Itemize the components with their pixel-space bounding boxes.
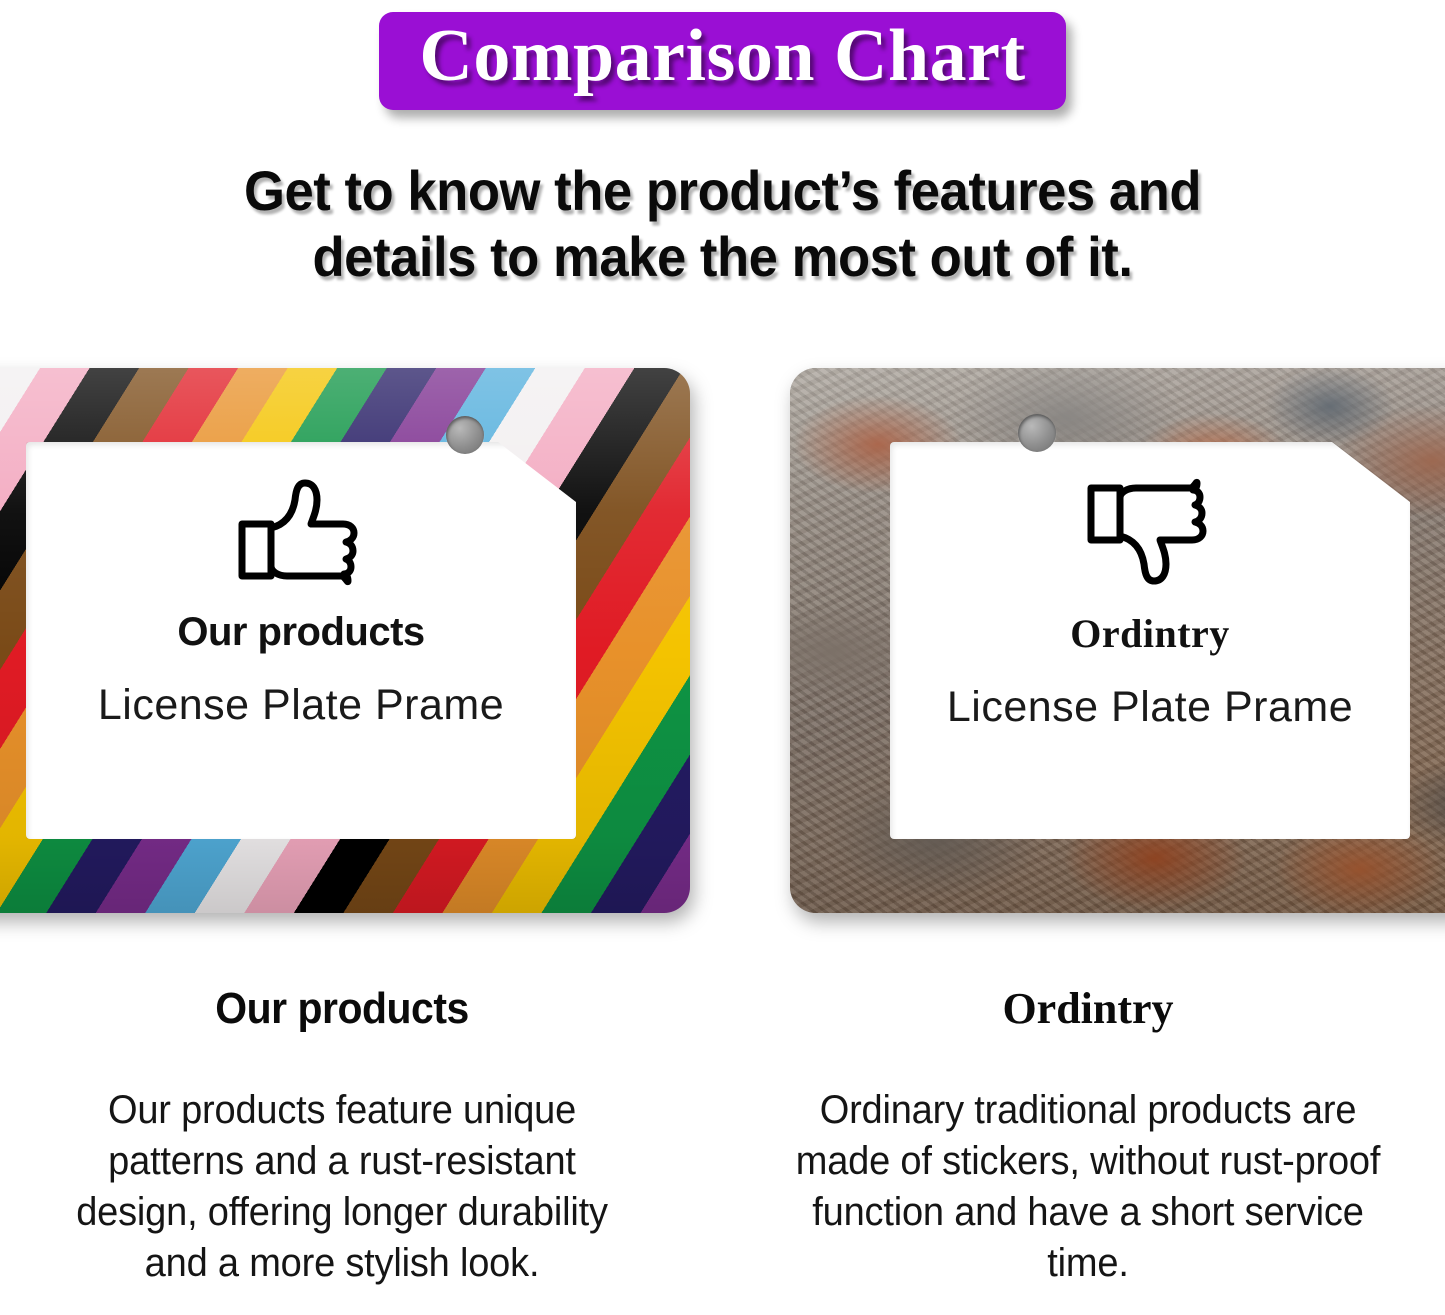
- thumbs-up-icon: [235, 476, 367, 588]
- column-heading-right: Ordintry: [738, 985, 1438, 1033]
- title-banner-wrap: Comparison Chart: [0, 12, 1445, 110]
- license-plate-window-left: Our products License Plate Prame: [26, 442, 576, 839]
- mounting-hole-left: [446, 416, 484, 454]
- ordinary-product-frame: Ordintry License Plate Prame: [790, 368, 1445, 913]
- our-product-frame: Our products License Plate Prame: [0, 368, 690, 913]
- column-heading-left: Our products: [17, 985, 668, 1033]
- column-body-right: Ordinary traditional products are made o…: [756, 1085, 1421, 1288]
- comparison-columns: Our products Our products feature unique…: [0, 985, 1445, 1315]
- page-title: Comparison Chart: [419, 18, 1025, 96]
- column-our-products: Our products Our products feature unique…: [0, 985, 692, 1289]
- frames-row: Our products License Plate Prame Ordintr…: [0, 360, 1445, 920]
- title-banner: Comparison Chart: [379, 12, 1065, 110]
- subtitle-line-2: details to make the most out of it.: [43, 224, 1401, 290]
- thumbs-down-icon: [1084, 476, 1216, 588]
- plate-title-left: Our products: [177, 610, 424, 655]
- mounting-hole-right: [1018, 414, 1056, 452]
- plate-subtitle-left: License Plate Prame: [98, 681, 504, 730]
- page-subtitle: Get to know the product’s features and d…: [43, 158, 1401, 289]
- plate-subtitle-right: License Plate Prame: [947, 683, 1353, 732]
- column-body-left: Our products feature unique patterns and…: [10, 1085, 675, 1288]
- column-ordintry: Ordintry Ordinary traditional products a…: [738, 985, 1438, 1289]
- license-plate-window-right: Ordintry License Plate Prame: [890, 442, 1410, 839]
- plate-title-right: Ordintry: [1070, 610, 1230, 657]
- subtitle-line-1: Get to know the product’s features and: [43, 158, 1401, 224]
